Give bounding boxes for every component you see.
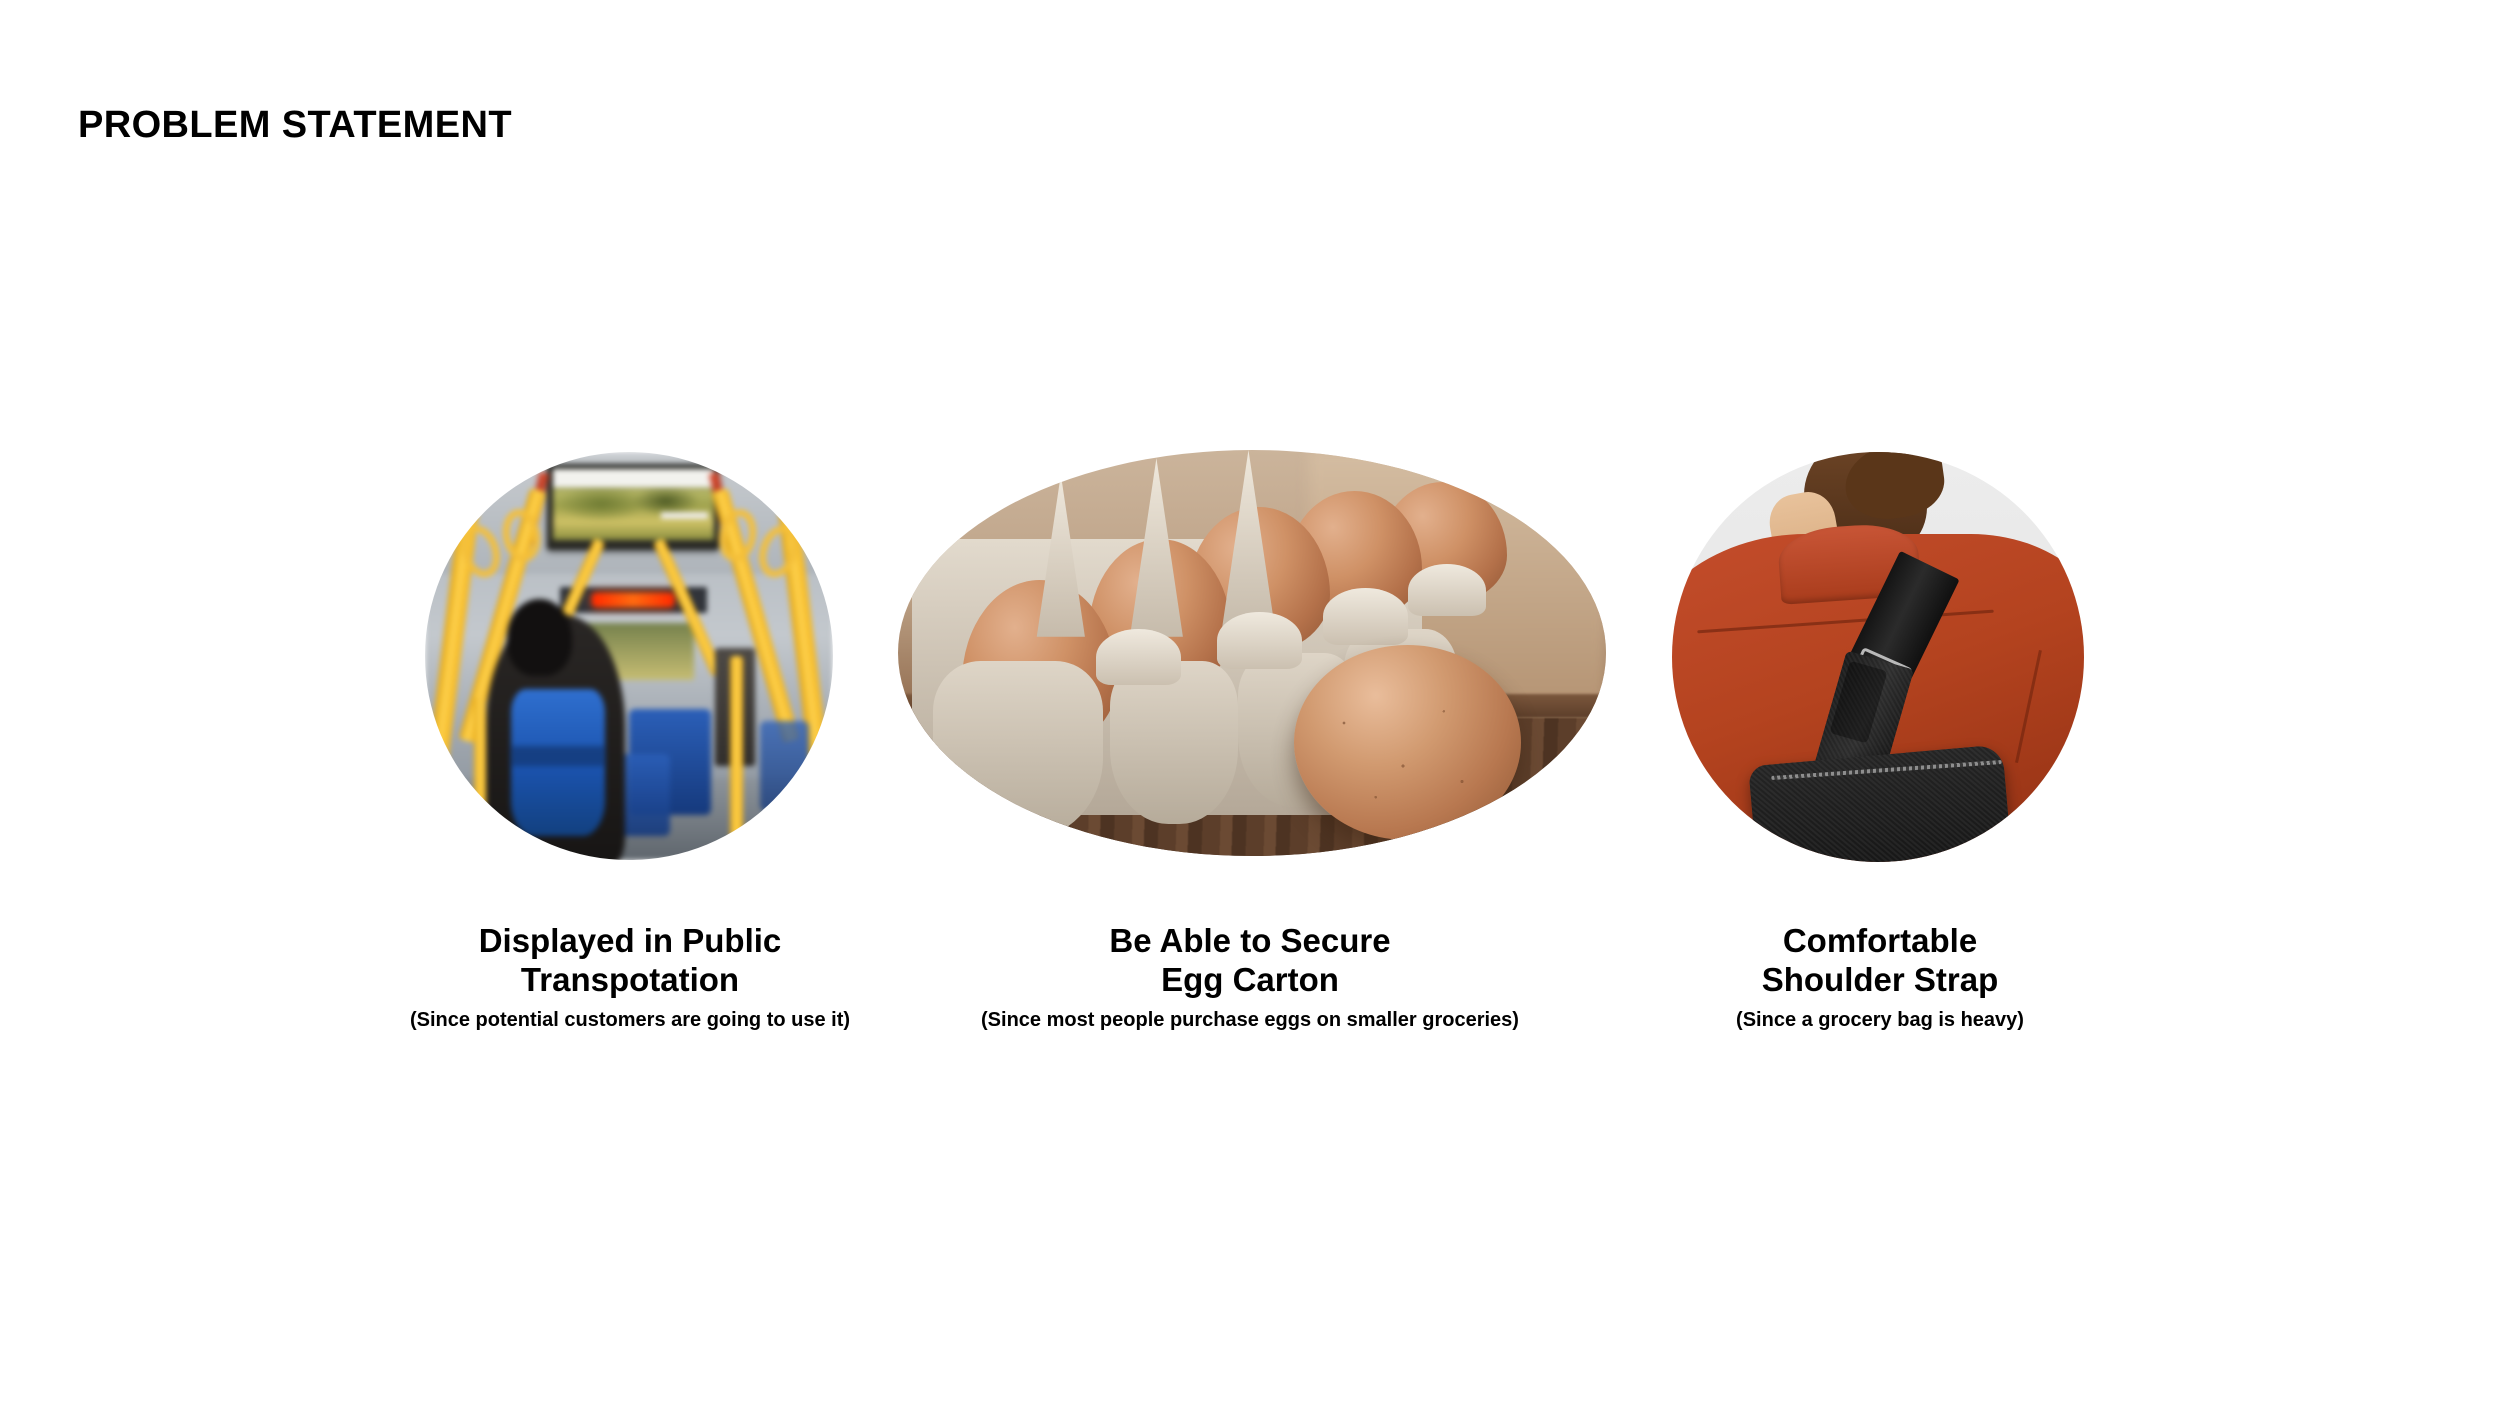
card-title: Comfortable Shoulder Strap bbox=[1640, 922, 2120, 1000]
carton-ridge bbox=[1217, 612, 1302, 669]
card-title: Displayed in Public Transpotation bbox=[390, 922, 870, 1000]
card-title: Be Able to Secure Egg Carton bbox=[880, 922, 1620, 1000]
grab-pole bbox=[474, 697, 486, 852]
card-caption: Comfortable Shoulder Strap (Since a groc… bbox=[1640, 922, 2120, 1032]
front-egg bbox=[1294, 645, 1521, 840]
card-subtitle: (Since a grocery bag is heavy) bbox=[1640, 1009, 2120, 1032]
bus-display-screen bbox=[547, 464, 718, 550]
grab-pole bbox=[730, 656, 743, 852]
carton-cup bbox=[1110, 661, 1237, 823]
carton-ridge bbox=[1096, 629, 1181, 686]
shoulder-strap-bag-photo bbox=[1672, 452, 2084, 862]
slide-canvas: PROBLEM STATEMENT bbox=[0, 0, 2500, 1406]
card-subtitle: (Since most people purchase eggs on smal… bbox=[880, 1009, 1620, 1032]
card-caption: Displayed in Public Transpotation (Since… bbox=[390, 922, 870, 1032]
bus-seat bbox=[760, 721, 809, 811]
carton-cup bbox=[933, 661, 1103, 840]
carton-ridge bbox=[1323, 588, 1408, 645]
egg-carton-photo bbox=[898, 450, 1606, 856]
carton-ridge bbox=[1408, 564, 1486, 617]
card-caption: Be Able to Secure Egg Carton (Since most… bbox=[880, 922, 1620, 1032]
passenger-head bbox=[507, 599, 572, 677]
cards-row: Displayed in Public Transpotation (Since… bbox=[0, 0, 2500, 1406]
card-subtitle: (Since potential customers are going to … bbox=[390, 1009, 870, 1032]
bus-interior-photo bbox=[425, 452, 833, 860]
